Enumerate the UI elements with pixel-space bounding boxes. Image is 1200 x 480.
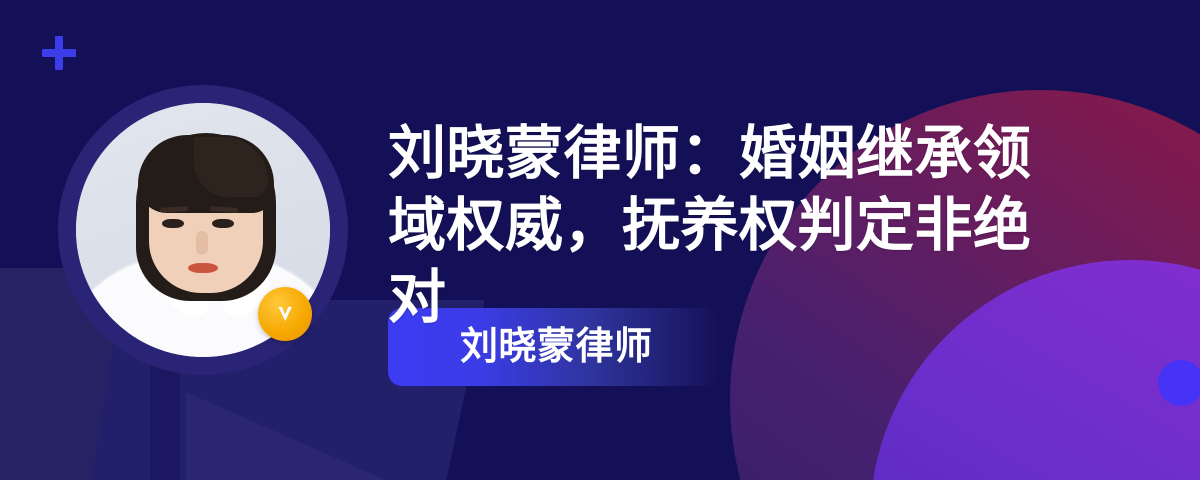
plus-icon bbox=[42, 36, 76, 70]
page-title: 刘晓蒙律师：婚姻继承领域权威，抚养权判定非绝对 bbox=[388, 118, 1088, 334]
article-cover-banner: 刘晓蒙律师 刘晓蒙律师：婚姻继承领域权威，抚养权判定非绝对 bbox=[0, 0, 1200, 480]
verified-v-icon bbox=[258, 287, 312, 341]
text-content-block: 刘晓蒙律师 刘晓蒙律师：婚姻继承领域权威，抚养权判定非绝对 bbox=[388, 118, 1178, 334]
avatar bbox=[58, 85, 348, 375]
blue-dot-shape bbox=[1158, 360, 1200, 406]
